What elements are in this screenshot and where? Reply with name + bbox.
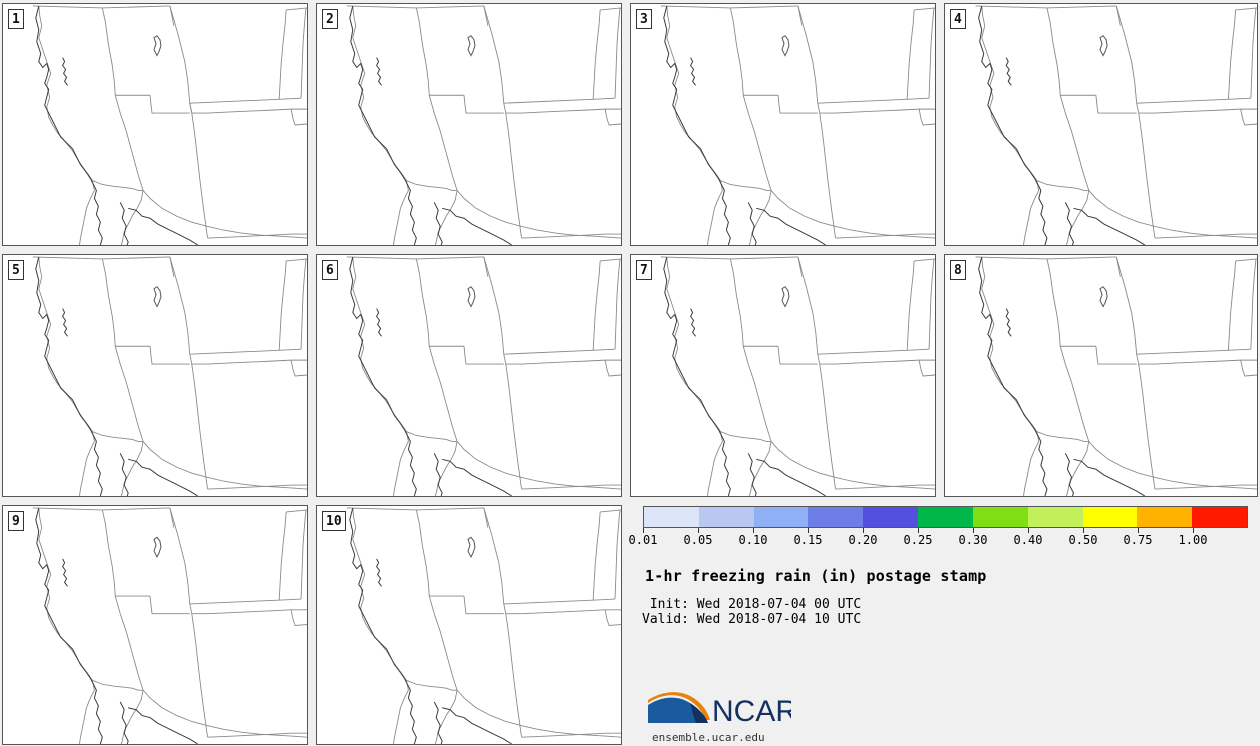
colorbar-tick-label: 0.50 bbox=[1069, 533, 1098, 547]
map-panel-3[interactable]: 3 bbox=[630, 3, 936, 246]
panel-label: 3 bbox=[636, 9, 652, 29]
logo-url-label: ensemble.ucar.edu bbox=[652, 731, 765, 744]
figure-title: 1-hr freezing rain (in) postage stamp bbox=[645, 567, 987, 585]
colorbar-swatch bbox=[1028, 507, 1083, 527]
colorbar-swatch bbox=[699, 507, 754, 527]
colorbar-tick-label: 1.00 bbox=[1179, 533, 1208, 547]
colorbar-swatch bbox=[1137, 507, 1192, 527]
colorbar-tick-label: 0.05 bbox=[684, 533, 713, 547]
colorbar-swatch bbox=[1192, 507, 1247, 527]
colorbar-swatch bbox=[973, 507, 1028, 527]
map-panel-9[interactable]: 9 bbox=[2, 505, 308, 745]
map-graphic bbox=[3, 506, 307, 744]
map-graphic bbox=[631, 4, 935, 245]
map-graphic bbox=[3, 4, 307, 245]
map-panel-2[interactable]: 2 bbox=[316, 3, 622, 246]
colorbar-tick-label: 0.75 bbox=[1124, 533, 1153, 547]
colorbar-swatch bbox=[918, 507, 973, 527]
map-graphic bbox=[945, 4, 1257, 245]
init-time-label: Init: Wed 2018-07-04 00 UTC bbox=[642, 597, 861, 612]
panel-label: 8 bbox=[950, 260, 966, 280]
map-panel-1[interactable]: 1 bbox=[2, 3, 308, 246]
panel-label: 10 bbox=[322, 511, 346, 531]
map-graphic bbox=[317, 506, 621, 744]
colorbar-swatch bbox=[808, 507, 863, 527]
map-graphic bbox=[3, 255, 307, 496]
panel-label: 4 bbox=[950, 9, 966, 29]
map-panel-6[interactable]: 6 bbox=[316, 254, 622, 497]
map-graphic bbox=[631, 255, 935, 496]
colorbar-tick-label: 0.30 bbox=[959, 533, 988, 547]
panel-label: 7 bbox=[636, 260, 652, 280]
map-panel-8[interactable]: 8 bbox=[944, 254, 1258, 497]
colorbar-swatch bbox=[644, 507, 699, 527]
map-panel-4[interactable]: 4 bbox=[944, 3, 1258, 246]
colorbar-tick-label: 0.15 bbox=[794, 533, 823, 547]
panel-label: 5 bbox=[8, 260, 24, 280]
colorbar-tick-label: 0.25 bbox=[904, 533, 933, 547]
map-panel-10[interactable]: 10 bbox=[316, 505, 622, 745]
colorbar-swatch bbox=[1083, 507, 1138, 527]
ncar-logo: NCAR bbox=[646, 686, 791, 730]
map-graphic bbox=[317, 255, 621, 496]
colorbar-tick-axis: 0.010.050.100.150.200.250.300.400.500.75… bbox=[643, 528, 1248, 546]
panel-label: 9 bbox=[8, 511, 24, 531]
logo-wordmark: NCAR bbox=[712, 695, 791, 728]
map-graphic bbox=[317, 4, 621, 245]
figure-canvas: 1 bbox=[0, 0, 1260, 746]
colorbar bbox=[643, 506, 1248, 528]
colorbar-tick-label: 0.40 bbox=[1014, 533, 1043, 547]
panel-label: 6 bbox=[322, 260, 338, 280]
colorbar-swatch bbox=[863, 507, 918, 527]
colorbar-tick-label: 0.01 bbox=[629, 533, 658, 547]
panel-label: 2 bbox=[322, 9, 338, 29]
colorbar-swatch bbox=[754, 507, 809, 527]
colorbar-tick-label: 0.20 bbox=[849, 533, 878, 547]
valid-time-label: Valid: Wed 2018-07-04 10 UTC bbox=[642, 612, 861, 627]
map-panel-7[interactable]: 7 bbox=[630, 254, 936, 497]
map-panel-5[interactable]: 5 bbox=[2, 254, 308, 497]
panel-label: 1 bbox=[8, 9, 24, 29]
map-graphic bbox=[945, 255, 1257, 496]
colorbar-tick-label: 0.10 bbox=[739, 533, 768, 547]
